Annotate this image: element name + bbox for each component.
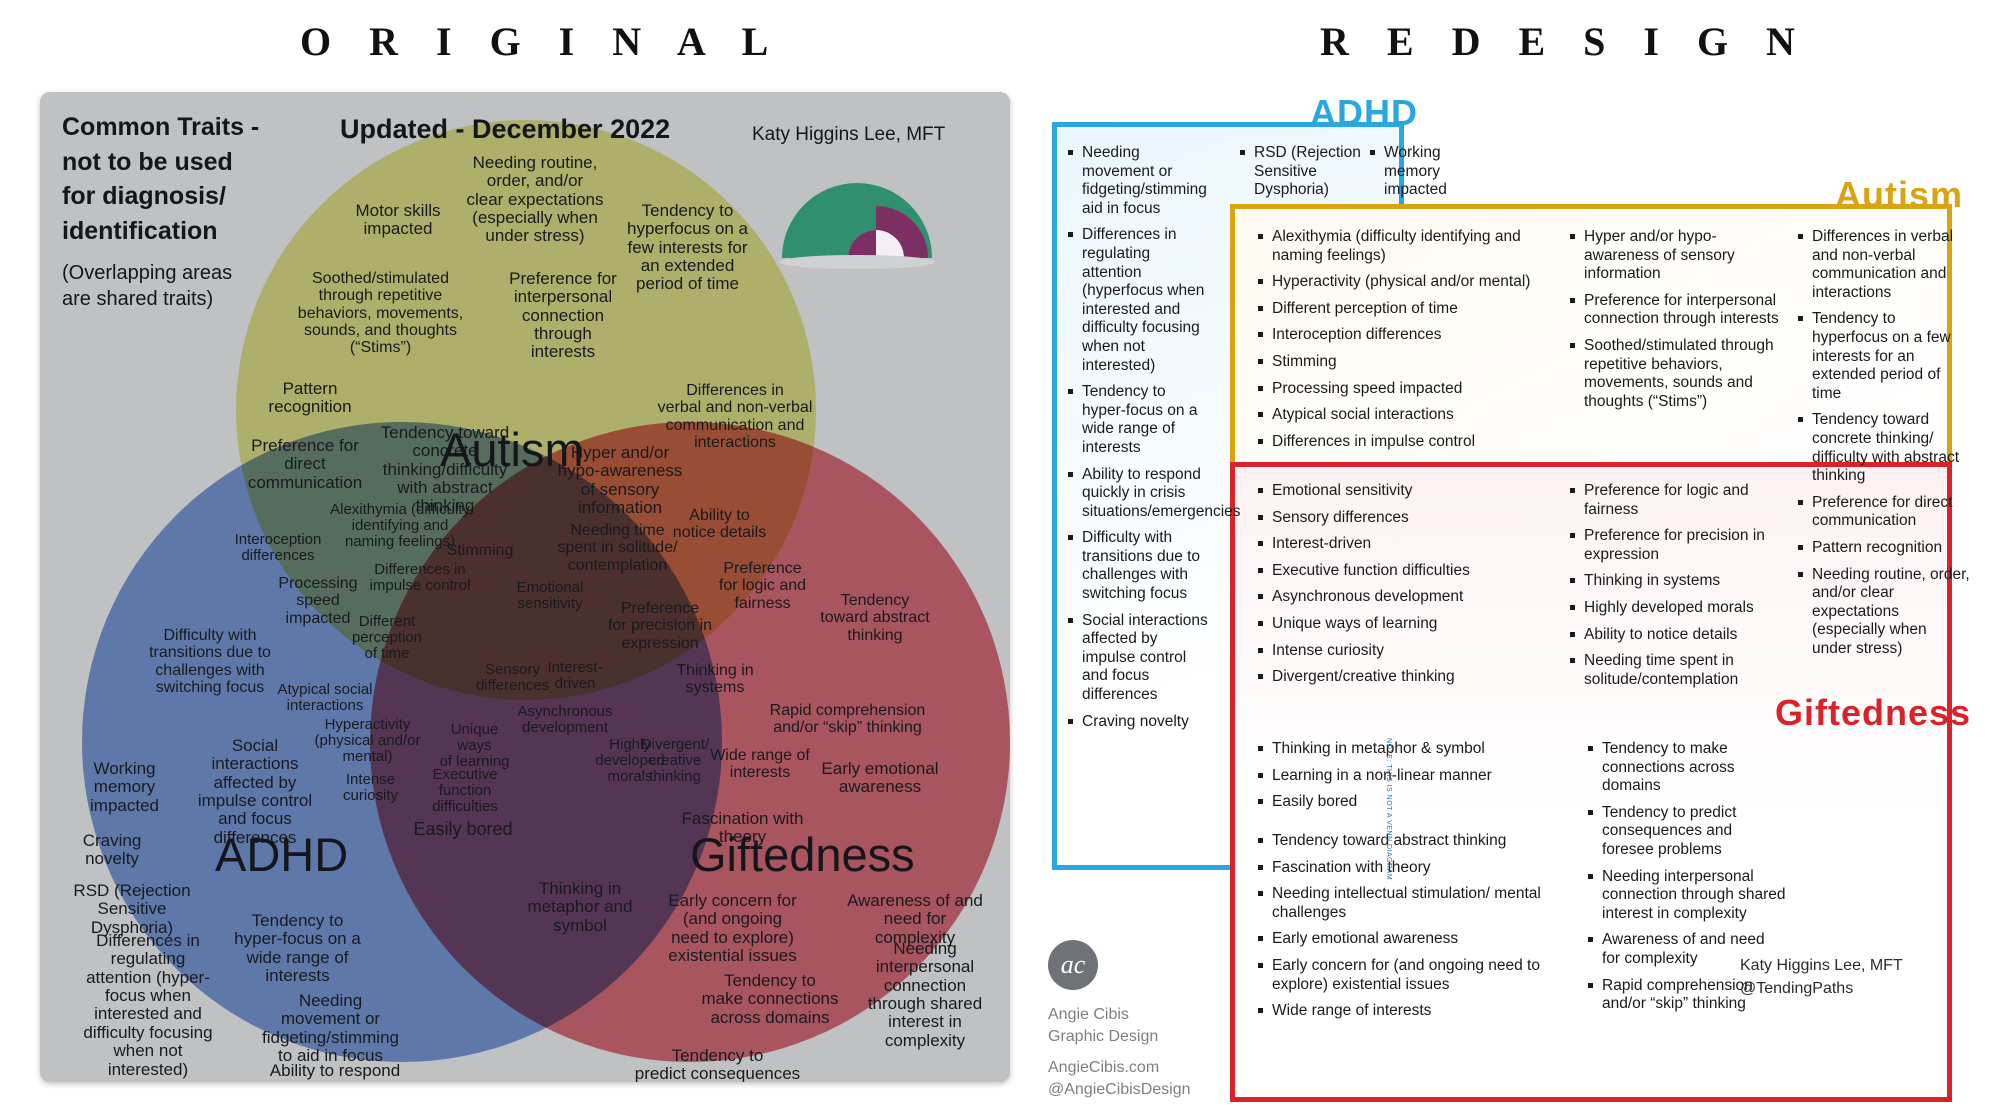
trait-list-item: Needing movement or fidgeting/stimming a… bbox=[1068, 144, 1208, 218]
trait-list-item: Sensory differences bbox=[1258, 509, 1552, 528]
venn-trait-early-concern-existential: Early concern for (and ongoing need to e… bbox=[645, 892, 820, 965]
trait-list-item: Tendency to predict consequences and for… bbox=[1588, 804, 1786, 860]
venn-label-autism: Autism bbox=[440, 422, 584, 477]
venn-trait-needing-routine: Needing routine, order, and/or clear exp… bbox=[440, 154, 630, 246]
venn-trait-atypical-social: Atypical social interactions bbox=[255, 682, 395, 714]
trait-list-item: Hyper and/or hypo-awareness of sensory i… bbox=[1570, 228, 1782, 284]
trait-list-item: Differences in impulse control bbox=[1258, 433, 1552, 452]
designer-site[interactable]: AngieCibis.com bbox=[1048, 1057, 1191, 1079]
venn-trait-craving-novelty: Craving novelty bbox=[62, 832, 162, 869]
list-adhd-only-col3: Working memory impacted bbox=[1370, 144, 1490, 208]
trait-list-item: Thinking in systems bbox=[1570, 572, 1782, 591]
trait-list-item: Needing time spent in solitude/contempla… bbox=[1570, 652, 1782, 689]
list-adhd-autism-shared: Alexithymia (difficulty identifying and … bbox=[1258, 228, 1552, 459]
trait-list-item: Stimming bbox=[1258, 353, 1552, 372]
trait-list-item: Unique ways of learning bbox=[1258, 615, 1552, 634]
venn-trait-needing-movement: Needing movement or fidgeting/stimming t… bbox=[238, 992, 423, 1065]
angie-cibis-logo-icon: ac bbox=[1048, 940, 1098, 990]
trait-list-item: Early concern for (and ongoing need to e… bbox=[1258, 957, 1568, 994]
venn-trait-executive-function: Executive function difficulties bbox=[410, 767, 520, 816]
trait-list-item: Different perception of time bbox=[1258, 300, 1552, 319]
trait-list-item: RSD (Rejection Sensitive Dysphoria) bbox=[1240, 144, 1370, 200]
venn-trait-pattern-recognition: Pattern recognition bbox=[250, 380, 370, 417]
list-autism-giftedness-shared: Preference for logic and fairnessPrefere… bbox=[1570, 482, 1782, 697]
trait-list-item: Differences in regulating attention (hyp… bbox=[1068, 226, 1208, 375]
trait-list-item: Preference for interpersonal connection … bbox=[1570, 292, 1782, 329]
trait-list-item: Difficulty with transitions due to chall… bbox=[1068, 529, 1208, 603]
trait-list-item: Needing intellectual stimulation/ mental… bbox=[1258, 885, 1568, 922]
trait-list-item: Divergent/creative thinking bbox=[1258, 668, 1552, 687]
venn-trait-tendency-abstract: Tendency toward abstract thinking bbox=[800, 592, 950, 644]
list-giftedness-only-left: Tendency toward abstract thinkingFascina… bbox=[1258, 832, 1568, 1029]
redesign-heading: R E D E S I G N bbox=[1320, 18, 1809, 65]
list-adhd-only-col2: RSD (Rejection Sensitive Dysphoria) bbox=[1240, 144, 1370, 208]
list-all-three-shared: Emotional sensitivitySensory differences… bbox=[1258, 482, 1552, 695]
vertical-note-text: NOTE: THIS IS NOT A VENN DIAGRAM bbox=[1385, 738, 1392, 880]
trait-list-item: Wide range of interests bbox=[1258, 1002, 1568, 1021]
trait-list-item: Pattern recognition bbox=[1798, 539, 1970, 558]
venn-trait-different-perception-time: Different perception of time bbox=[332, 614, 442, 663]
venn-trait-unique-ways-learning: Unique ways of learning bbox=[422, 722, 527, 771]
trait-list-item: Ability to notice details bbox=[1570, 626, 1782, 645]
trait-list-item: Differences in verbal and non-verbal com… bbox=[1798, 228, 1970, 302]
trait-list-item: Atypical social interactions bbox=[1258, 406, 1552, 425]
trait-list-item: Interest-driven bbox=[1258, 535, 1552, 554]
trait-list-item: Tendency to hyper-focus on a wide range … bbox=[1068, 383, 1208, 457]
venn-trait-needing-time-solitude: Needing time spent in solitude/ contempl… bbox=[535, 522, 700, 574]
trait-list-item: Ability to respond quickly in crisis sit… bbox=[1068, 466, 1208, 522]
venn-trait-differences-regulating-attention: Differences in regulating attention (hyp… bbox=[68, 932, 228, 1079]
venn-trait-ability-respond-crisis: Ability to respond quickly in crisis sit… bbox=[225, 1062, 445, 1082]
redesign-label-autism: Autism bbox=[1835, 174, 1963, 216]
trait-list-item: Preference for logic and fairness bbox=[1570, 482, 1782, 519]
author-name: Katy Higgins Lee, MFT bbox=[1740, 954, 1903, 977]
original-subtitle: (Overlapping areas are shared traits) bbox=[62, 260, 352, 313]
venn-trait-easily-bored: Easily bored bbox=[398, 820, 528, 839]
venn-trait-stimming: Stimming bbox=[425, 542, 535, 559]
trait-list-item: Emotional sensitivity bbox=[1258, 482, 1552, 501]
venn-trait-tendency-predict: Tendency to predict consequences and for… bbox=[610, 1047, 825, 1082]
redesign-label-adhd: ADHD bbox=[1310, 92, 1418, 134]
list-autism-only-right: Differences in verbal and non-verbal com… bbox=[1798, 228, 1970, 666]
venn-trait-differences-impulse: Differences in impulse control bbox=[345, 562, 495, 594]
venn-trait-tendency-make-connections: Tendency to make connections across doma… bbox=[680, 972, 860, 1027]
venn-trait-working-memory: Working memory impacted bbox=[72, 760, 177, 815]
trait-list-item: Tendency to hyperfocus on a few interest… bbox=[1798, 310, 1970, 403]
trait-list-item: Learning in a non-linear manner bbox=[1258, 767, 1552, 786]
trait-list-item: Asynchronous development bbox=[1258, 588, 1552, 607]
trait-list-item: Tendency toward abstract thinking bbox=[1258, 832, 1568, 851]
trait-list-item: Fascination with theory bbox=[1258, 859, 1568, 878]
trait-list-item: Needing interpersonal connection through… bbox=[1588, 868, 1786, 924]
redesign-author-credit: Katy Higgins Lee, MFT @TendingPaths bbox=[1740, 954, 1903, 1000]
venn-trait-highly-developed-morals: Highly developed morals bbox=[580, 737, 680, 786]
trait-list-item: Soothed/stimulated through repetitive be… bbox=[1570, 337, 1782, 411]
venn-trait-intense-curiosity: Intense curiosity bbox=[323, 772, 418, 804]
venn-trait-interoception: Interoception differences bbox=[208, 532, 348, 564]
venn-trait-thinking-in-systems: Thinking in systems bbox=[655, 662, 775, 697]
trait-list-item: Tendency to make connections across doma… bbox=[1588, 740, 1786, 796]
trait-list-item: Preference for precision in expression bbox=[1570, 527, 1782, 564]
venn-trait-needing-interpersonal-complexity: Needing interpersonal connection through… bbox=[850, 940, 1000, 1050]
original-updated-date: Updated - December 2022 bbox=[340, 114, 670, 145]
original-title: Common Traits - not to be used for diagn… bbox=[62, 110, 332, 248]
trait-list-item: Preference for direct communication bbox=[1798, 494, 1970, 531]
list-autism-only-mid: Hyper and/or hypo-awareness of sensory i… bbox=[1570, 228, 1782, 419]
trait-list-item: Thinking in metaphor & symbol bbox=[1258, 740, 1552, 759]
venn-label-giftedness: Giftedness bbox=[690, 827, 915, 882]
trait-list-item: Intense curiosity bbox=[1258, 642, 1552, 661]
venn-trait-rapid-comprehension: Rapid comprehension and/or “skip” thinki… bbox=[740, 702, 955, 737]
trait-list-item: Tendency toward concrete thinking/ diffi… bbox=[1798, 411, 1970, 485]
trait-list-item: Processing speed impacted bbox=[1258, 380, 1552, 399]
author-handle[interactable]: @TendingPaths bbox=[1740, 977, 1903, 1000]
venn-trait-differences-verbal: Differences in verbal and non-verbal com… bbox=[640, 382, 830, 451]
trait-list-item: Social interactions affected by impulse … bbox=[1068, 612, 1208, 705]
list-adhd-giftedness-shared: Thinking in metaphor & symbolLearning in… bbox=[1258, 740, 1552, 820]
venn-trait-pref-interpersonal-interests: Preference for interpersonal connection … bbox=[488, 270, 638, 362]
original-heading: O R I G I N A L bbox=[300, 18, 782, 65]
trait-list-item: Highly developed morals bbox=[1570, 599, 1782, 618]
venn-trait-pref-precision: Preference for precision in expression bbox=[585, 600, 735, 652]
designer-handle[interactable]: @AngieCibisDesign bbox=[1048, 1079, 1191, 1101]
redesign-label-giftedness: Giftedness bbox=[1775, 692, 1971, 734]
venn-trait-tendency-hyperfocus-wide: Tendency to hyper-focus on a wide range … bbox=[215, 912, 380, 985]
original-venn-panel: Common Traits - not to be used for diagn… bbox=[40, 92, 1010, 1082]
designer-credit: ac Angie Cibis Graphic Design AngieCibis… bbox=[1048, 940, 1191, 1100]
venn-trait-thinking-metaphor: Thinking in metaphor and symbol bbox=[510, 880, 650, 935]
trait-list-item: Early emotional awareness bbox=[1258, 930, 1568, 949]
trait-list-item: Craving novelty bbox=[1068, 713, 1208, 732]
designer-role: Graphic Design bbox=[1048, 1026, 1191, 1048]
trait-list-item: Interoception differences bbox=[1258, 326, 1552, 345]
trait-list-item: Alexithymia (difficulty identifying and … bbox=[1258, 228, 1552, 265]
tending-paths-logo-icon bbox=[762, 162, 952, 274]
venn-trait-interest-driven: Interest- driven bbox=[530, 660, 620, 692]
list-adhd-only-col1: Needing movement or fidgeting/stimming a… bbox=[1068, 144, 1208, 739]
trait-list-item: Working memory impacted bbox=[1370, 144, 1490, 200]
trait-list-item: Executive function difficulties bbox=[1258, 562, 1552, 581]
redesign-panel: ADHD Autism Giftedness Needing movement … bbox=[1040, 92, 1980, 1092]
designer-name: Angie Cibis bbox=[1048, 1004, 1191, 1026]
trait-list-item: Needing routine, order, and/or clear exp… bbox=[1798, 566, 1970, 659]
trait-list-item: Easily bored bbox=[1258, 793, 1552, 812]
original-author-credit: Katy Higgins Lee, MFT bbox=[752, 124, 945, 146]
venn-trait-pref-direct-comm: Preference for direct communication bbox=[230, 437, 380, 492]
venn-trait-early-emotional-awareness: Early emotional awareness bbox=[800, 760, 960, 797]
venn-label-adhd: ADHD bbox=[215, 827, 348, 882]
venn-trait-rsd: RSD (Rejection Sensitive Dysphoria) bbox=[52, 882, 212, 937]
trait-list-item: Hyperactivity (physical and/or mental) bbox=[1258, 273, 1552, 292]
